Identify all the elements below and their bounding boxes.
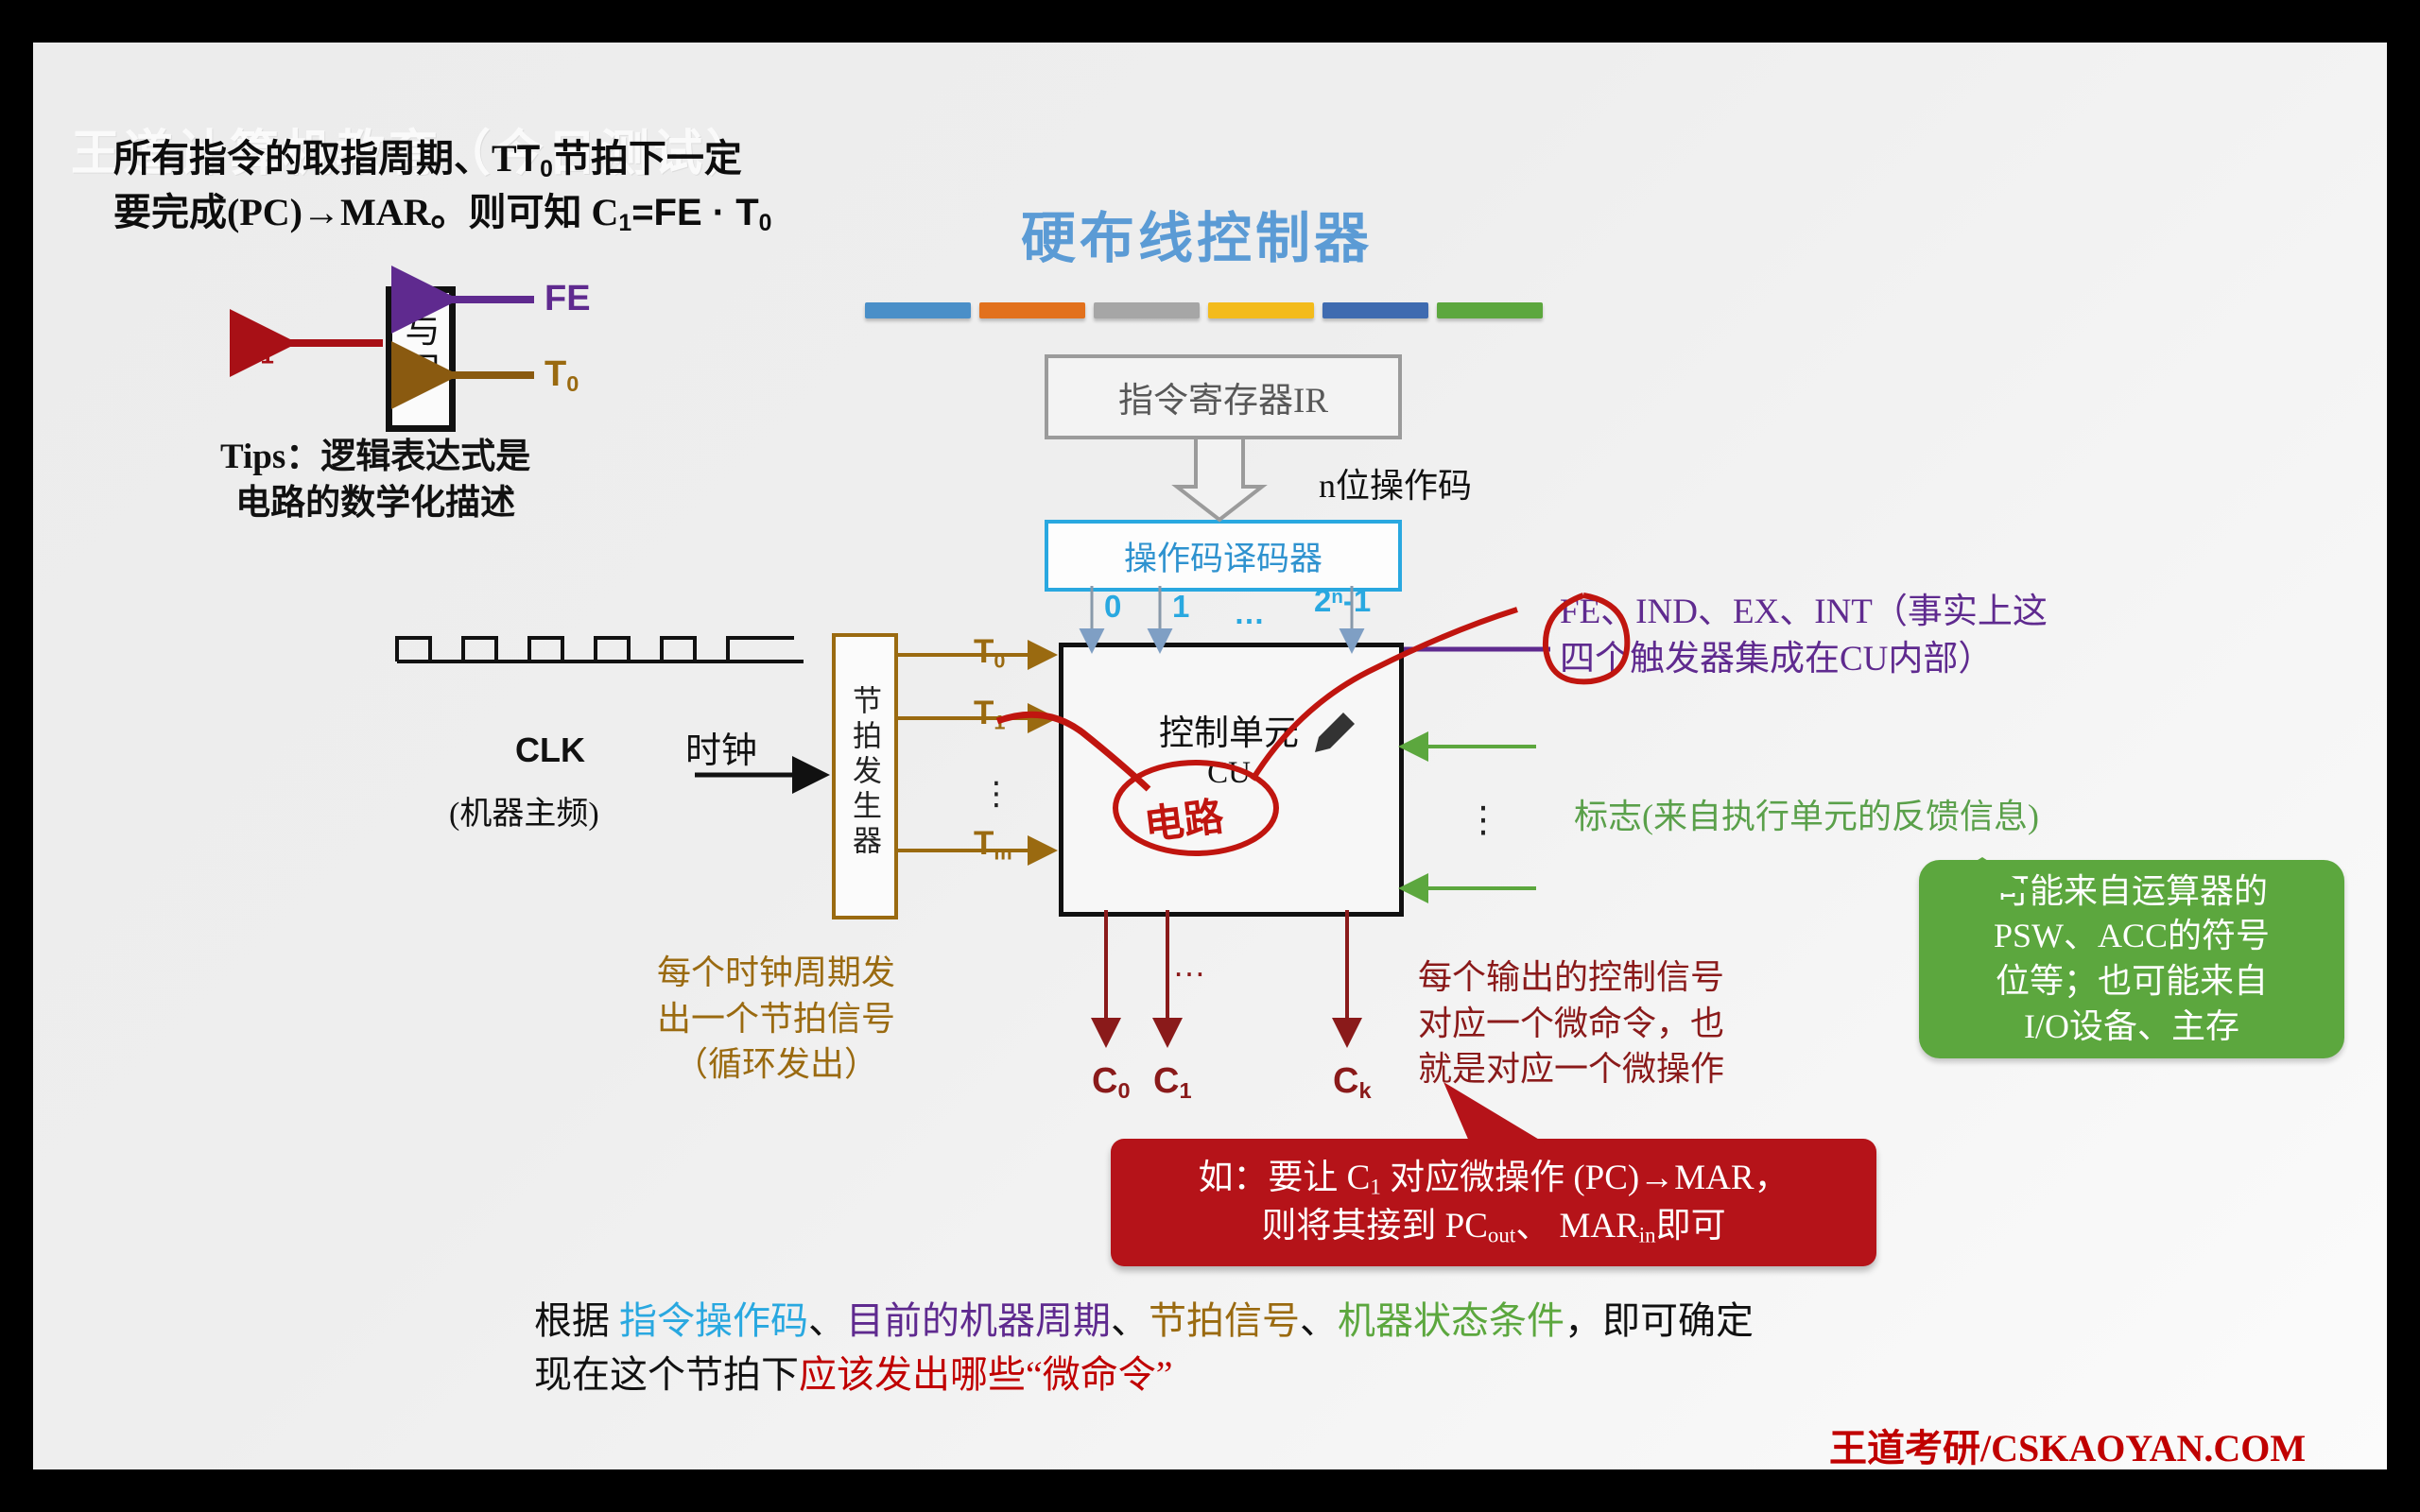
tl-line1-b: 节拍下一定: [553, 137, 742, 180]
tips-text: Tips：逻辑表达式是 电路的数学化描述: [220, 435, 530, 527]
tl-line1-sub: 0: [540, 157, 553, 182]
summary-seg-opcode: 指令操作码: [619, 1299, 808, 1342]
decoder-output-1: 1: [1172, 589, 1189, 625]
clk-label: CLK: [515, 730, 585, 770]
green-callout: 可能来自运算器的 PSW、ACC的符号 位等；也可能来自 I/O设备、主存: [1919, 860, 2344, 1058]
tl-line2-sub2: 0: [759, 212, 772, 237]
and-gate-label: 与门: [392, 294, 436, 411]
color-swatch: [1094, 302, 1200, 318]
summary-line2-a: 现在这个节拍下: [534, 1353, 799, 1396]
clock-waveform: [397, 638, 794, 661]
summary-tail: ，即可确定: [1564, 1299, 1754, 1342]
timing-output-t0: T0: [974, 633, 1005, 673]
tl-line2-sub1: 1: [618, 212, 631, 237]
decoder-output-last: 2n-1: [1314, 583, 1371, 619]
opcode-decoder-box: 操作码译码器: [1045, 520, 1402, 592]
color-swatch: [1322, 302, 1428, 318]
tl-line1-a: 所有指令的取指周期、T: [113, 137, 517, 180]
ir-to-decoder-block-arrow: [1177, 438, 1262, 520]
presentation-slide: 王道计算机教育（今日测试） 所有指令的取指周期、TT0节拍下一定 要完成(PC)…: [33, 43, 2387, 1469]
timing-generator-label: 节拍发生器: [837, 640, 886, 904]
and-gate-input-fe: FE: [544, 279, 591, 319]
top-left-paragraph: 所有指令的取指周期、TT0节拍下一定 要完成(PC)→MAR。则可知 C1=FE…: [113, 132, 771, 241]
decoder-output-0: 0: [1104, 589, 1121, 625]
control-signal-note: 每个输出的控制信号 对应一个微命令，也 就是对应一个微操作: [1418, 954, 1724, 1092]
cu-title-abbrev: CU: [1120, 755, 1338, 793]
and-gate-input-t0: T0: [544, 354, 579, 397]
decorative-color-bar: [865, 302, 1543, 318]
summary-seg-state: 机器状态条件: [1338, 1299, 1564, 1342]
brand-watermark: 王道考研/CSKAOYAN.COM: [1829, 1417, 2306, 1472]
color-swatch: [1208, 302, 1314, 318]
timing-note: 每个时钟周期发 出一个节拍信号 （循环发出）: [657, 950, 895, 1088]
summary-prefix: 根据: [534, 1299, 619, 1342]
flip-flop-note: FE、IND、EX、INT（事实上这 四个触发器集成在CU内部）: [1560, 589, 2048, 683]
timing-output-tm: Tm: [974, 825, 1012, 865]
control-output-c1: C1: [1153, 1061, 1192, 1104]
control-unit-label: 控制单元 CU: [1120, 713, 1338, 793]
decoder-output-ellipsis: …: [1234, 595, 1265, 631]
page-title: 硬布线控制器: [1021, 194, 1373, 273]
control-output-ellipsis: …: [1172, 945, 1206, 985]
summary-text: 根据 指令操作码、目前的机器周期、节拍信号、机器状态条件，即可确定 现在这个节拍…: [534, 1295, 1754, 1402]
timing-output-t1: T1: [974, 695, 1005, 734]
and-gate-output-c1: C1: [232, 321, 274, 370]
summary-seg-machine-cycle: 目前的机器周期: [846, 1299, 1111, 1342]
color-swatch: [1437, 302, 1543, 318]
tl-line2-c: =FE · T: [631, 192, 758, 233]
tl-line2-b: MAR。则可知 C: [340, 191, 618, 233]
handwritten-annotation: 电路: [1141, 784, 1227, 851]
clk-sublabel: (机器主频): [449, 787, 599, 833]
instruction-register-box: 指令寄存器IR: [1045, 354, 1402, 439]
tl-line2-a: 要完成(PC): [113, 191, 302, 233]
clock-cn-label: 时钟: [685, 721, 757, 773]
arrow-glyph: →: [302, 192, 340, 233]
flag-note: 标志(来自执行单元的反馈信息): [1574, 789, 2039, 838]
slide-stage: 王道计算机教育（今日测试） 所有指令的取指周期、TT0节拍下一定 要完成(PC)…: [0, 0, 2420, 1512]
n-bit-opcode-label: n位操作码: [1319, 458, 1472, 507]
color-swatch: [979, 302, 1085, 318]
summary-seg-timing: 节拍信号: [1149, 1299, 1300, 1342]
timing-ellipsis: ⋮: [980, 775, 1012, 813]
control-output-c0: C0: [1092, 1061, 1131, 1104]
control-output-ck: Ck: [1333, 1061, 1372, 1104]
color-swatch: [865, 302, 971, 318]
red-callout: 如：要让 C1 对应微操作 (PC)→MAR， 则将其接到 PCout、 MAR…: [1111, 1139, 1876, 1266]
summary-line2-b: 应该发出哪些“微命令”: [799, 1353, 1173, 1396]
cu-title-cn: 控制单元: [1120, 713, 1338, 755]
flag-ellipsis: ⋮: [1465, 799, 1501, 841]
